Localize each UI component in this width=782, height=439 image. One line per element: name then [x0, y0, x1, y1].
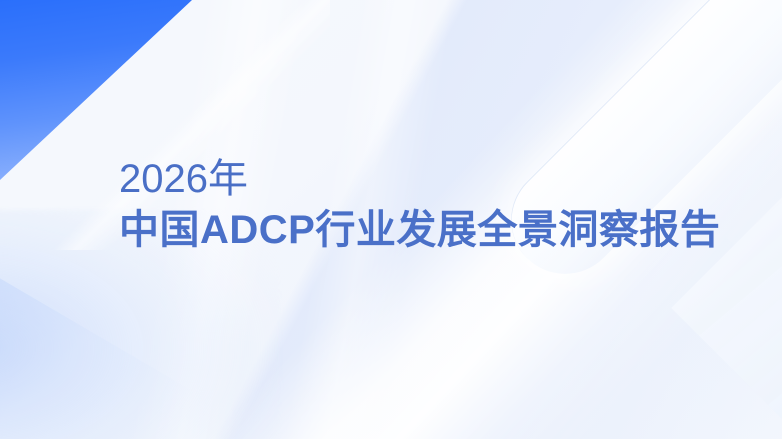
cover-title-block: 2026年 中国ADCP行业发展全景洞察报告	[119, 155, 739, 255]
report-cover-slide: 2026年 中国ADCP行业发展全景洞察报告	[0, 0, 782, 439]
cover-title-year: 2026年	[119, 155, 739, 203]
page-title: 中国ADCP行业发展全景洞察报告	[119, 205, 739, 255]
